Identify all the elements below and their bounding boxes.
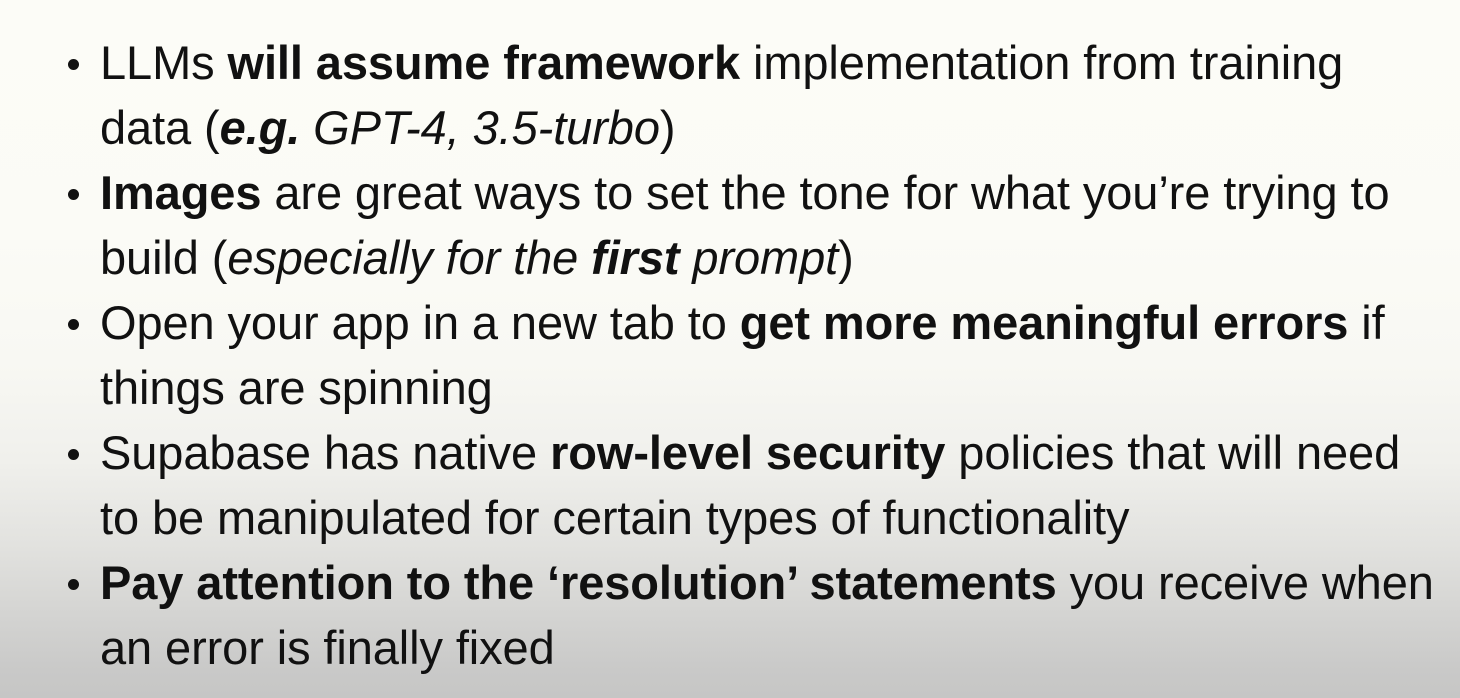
bullet-text-run: Pay attention to the ‘resolution’ statem… [100, 556, 1057, 609]
bullet-text-run: first [591, 231, 679, 284]
bullet-item-supabase-row-level-security: Supabase has native row-level security p… [0, 420, 1460, 550]
bullet-item-resolution-statements: Pay attention to the ‘resolution’ statem… [0, 550, 1460, 680]
bullet-text-run: get more meaningful errors [740, 296, 1349, 349]
bullet-text-run: prompt [679, 231, 838, 284]
bullet-text-run: especially for the [227, 231, 591, 284]
bullet-text-run: GPT-4, 3.5-turbo [300, 101, 660, 154]
slide-canvas: LLMs will assume framework implementatio… [0, 0, 1460, 698]
bullet-list: LLMs will assume framework implementatio… [0, 30, 1460, 680]
bullet-text-run: will assume framework [228, 36, 741, 89]
bullet-text-run: e.g. [220, 101, 301, 154]
bullet-text-run: Open your app in a new tab to [100, 296, 740, 349]
bullet-text-run: ) [660, 101, 676, 154]
bullet-text-run: Images [100, 166, 261, 219]
bullet-text-run: LLMs [100, 36, 228, 89]
bullet-item-llms-assume-framework: LLMs will assume framework implementatio… [0, 30, 1460, 160]
bullet-text-run: Supabase has native [100, 426, 550, 479]
bullet-item-open-app-new-tab: Open your app in a new tab to get more m… [0, 290, 1460, 420]
bullet-text-run: row-level security [550, 426, 945, 479]
bullet-text-run: ) [838, 231, 854, 284]
bullet-item-images-set-tone: Images are great ways to set the tone fo… [0, 160, 1460, 290]
